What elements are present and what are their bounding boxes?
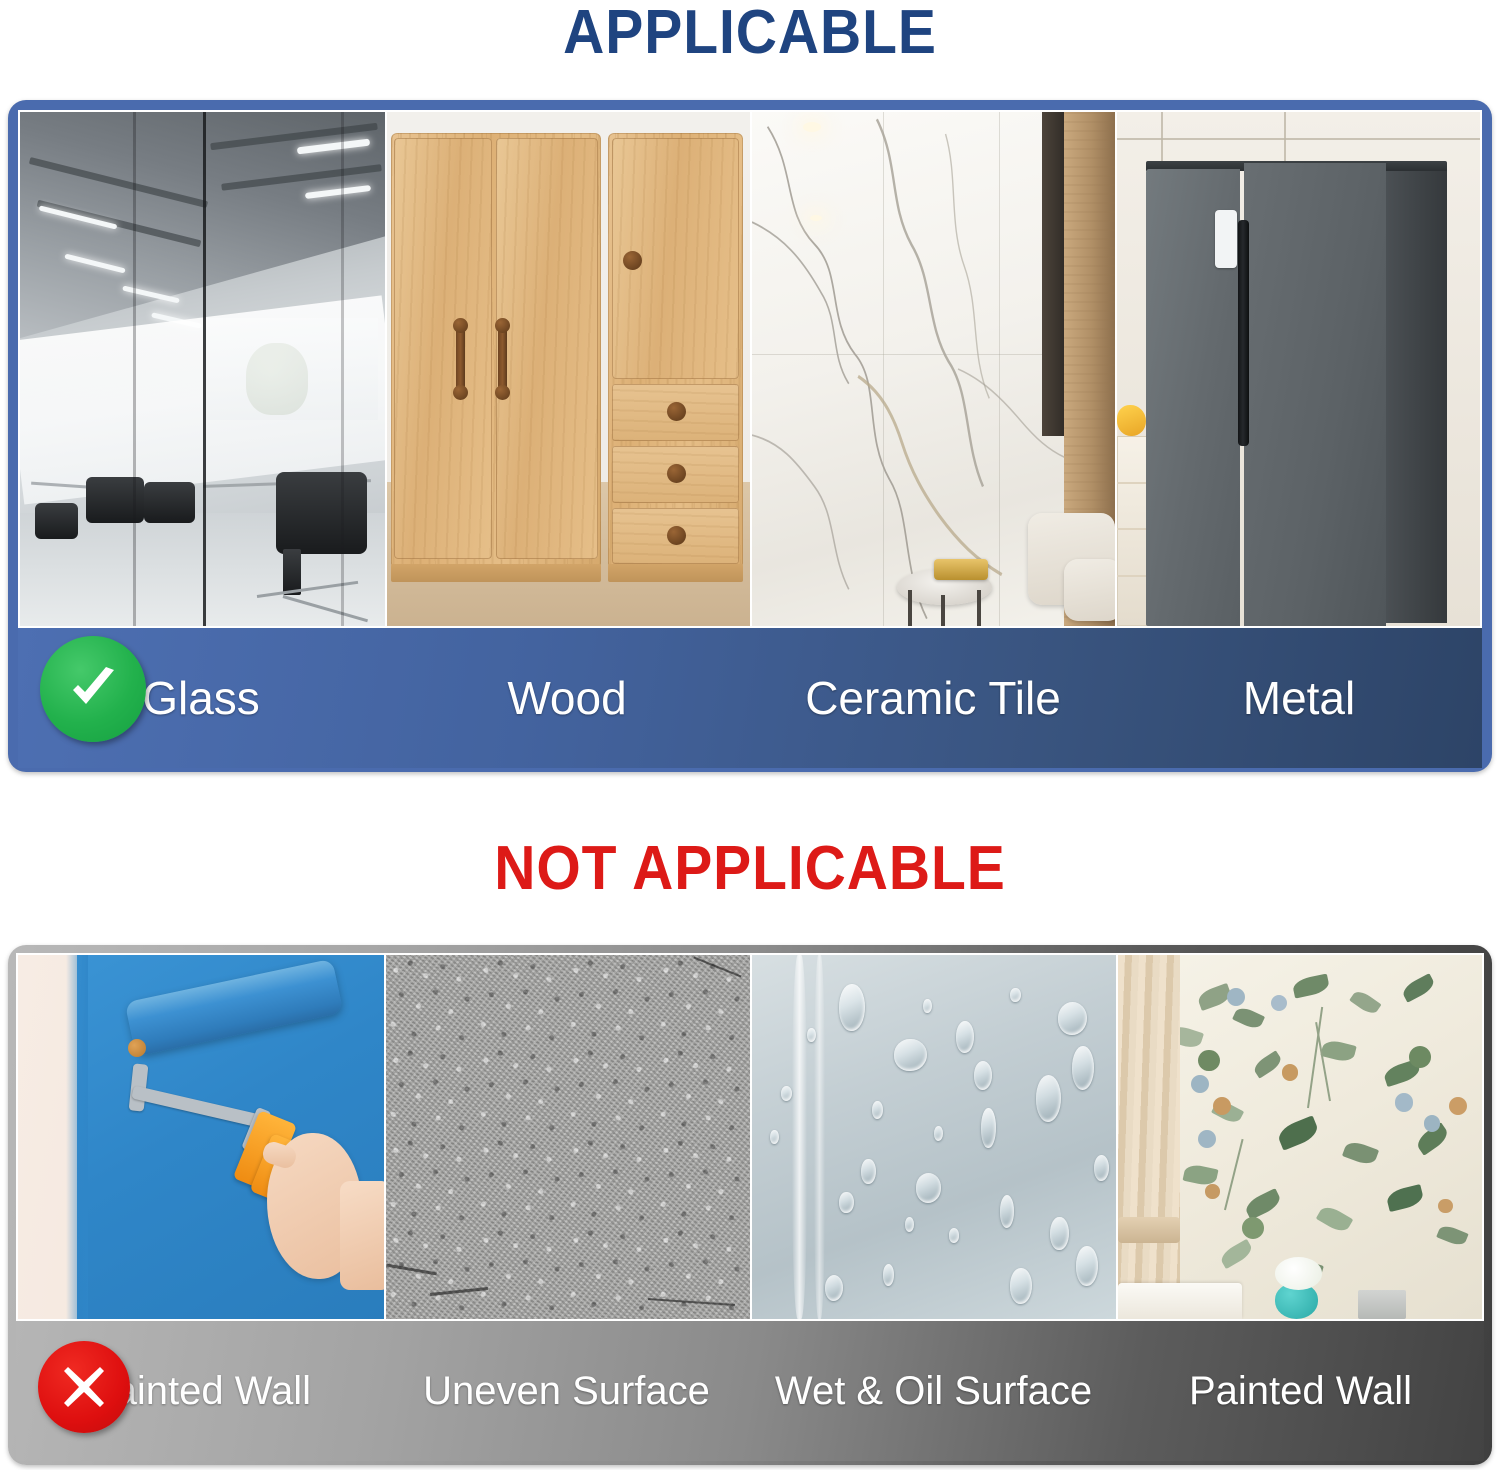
label-wet-oil-surface: Wet & Oil Surface	[750, 1369, 1117, 1414]
label-ceramic-tile: Ceramic Tile	[750, 671, 1116, 725]
photo-floral-wallpaper-room	[1116, 955, 1482, 1319]
check-icon	[40, 636, 146, 742]
photo-rough-concrete-texture	[384, 955, 750, 1319]
applicable-panel: Glass Wood Ceramic Tile Metal	[8, 100, 1492, 772]
not-applicable-section-title: NOT APPLICABLE	[60, 838, 1440, 900]
not-applicable-photo-strip	[16, 953, 1484, 1321]
photo-stainless-refrigerator	[1115, 112, 1480, 626]
photo-marble-tile-wall	[750, 112, 1115, 626]
photo-water-droplets-surface	[750, 955, 1116, 1319]
applicable-photo-strip	[18, 110, 1482, 628]
label-metal: Metal	[1116, 671, 1482, 725]
label-painted-wall-right: Painted Wall	[1117, 1369, 1484, 1414]
label-uneven-surface: Uneven Surface	[383, 1369, 750, 1414]
applicable-section-title: APPLICABLE	[60, 2, 1440, 64]
surface-compatibility-infographic: APPLICABLE	[0, 0, 1500, 1470]
photo-glass-office-partition	[20, 112, 385, 626]
applicable-label-bar: Glass Wood Ceramic Tile Metal	[18, 628, 1482, 768]
label-wood: Wood	[384, 671, 750, 725]
photo-paint-roller-blue-wall	[18, 955, 384, 1319]
not-applicable-panel: Painted Wall Uneven Surface Wet & Oil Su…	[8, 945, 1492, 1465]
x-icon	[38, 1341, 130, 1433]
not-applicable-label-bar: Painted Wall Uneven Surface Wet & Oil Su…	[16, 1321, 1484, 1461]
photo-oak-wardrobe	[385, 112, 750, 626]
